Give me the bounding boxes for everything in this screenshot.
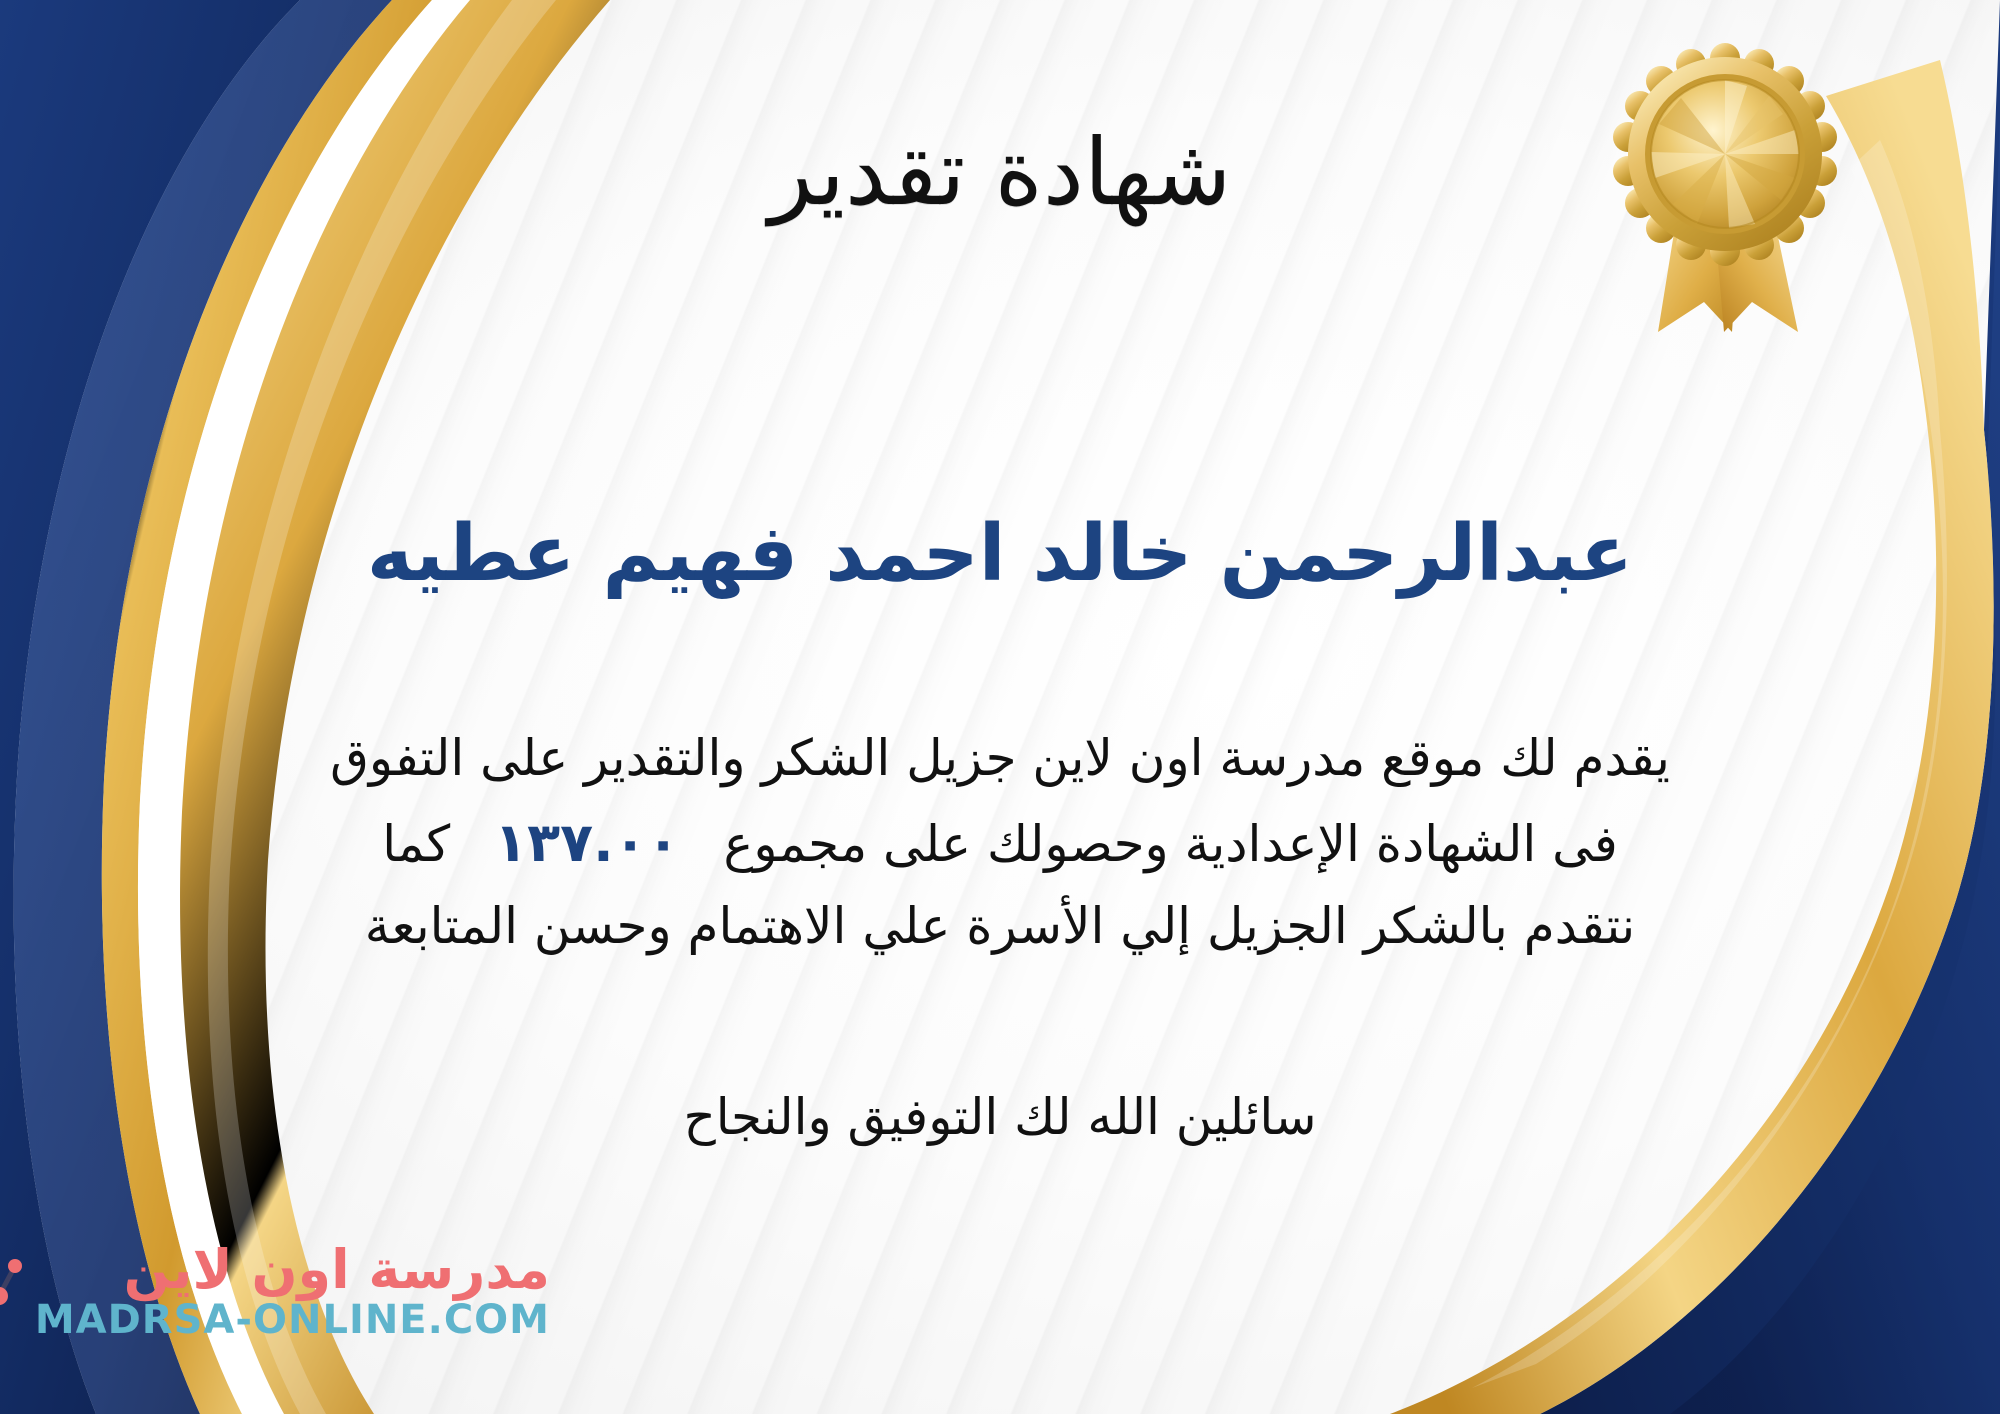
certificate-body: يقدم لك موقع مدرسة اون لاين جزيل الشكر و… xyxy=(70,718,1930,967)
logo-website-url: MADRSA-ONLINE.COM xyxy=(35,1298,550,1342)
network-nodes-icon xyxy=(0,1240,25,1344)
body-line-2: فى الشهادة الإعدادية وحصولك على مجموع ١٣… xyxy=(70,799,1930,886)
logo-arabic-name: مدرسة اون لاين xyxy=(124,1242,550,1299)
body-line-1: يقدم لك موقع مدرسة اون لاين جزيل الشكر و… xyxy=(70,718,1930,799)
student-name: عبدالرحمن خالد احمد فهيم عطيه xyxy=(0,508,2000,602)
site-logo[interactable]: مدرسة اون لاين MADRSA-ONLINE.COM xyxy=(30,1240,550,1390)
body-line-2-suffix: كما xyxy=(382,804,450,885)
grade-total-value: ١٣٧.٠٠ xyxy=(450,799,723,886)
gold-award-medal-icon xyxy=(1600,40,1850,340)
body-line-3: نتقدم بالشكر الجزيل إلي الأسرة علي الاهت… xyxy=(70,886,1930,967)
body-line-2-prefix: فى الشهادة الإعدادية وحصولك على مجموع xyxy=(724,804,1618,885)
certificate-document: شهادة تقدير عبدالرحمن خالد احمد فهيم عطي… xyxy=(0,0,2000,1414)
closing-line: سائلين الله لك التوفيق والنجاح xyxy=(0,1080,2000,1155)
